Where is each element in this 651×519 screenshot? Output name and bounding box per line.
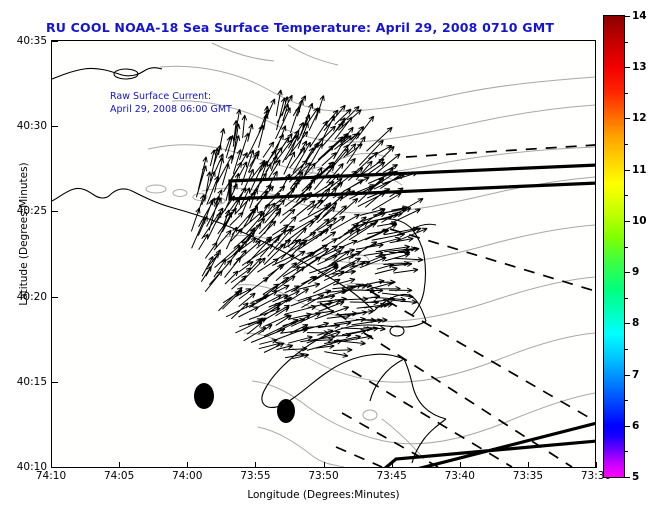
coastline: [52, 68, 446, 463]
x-tick-mark: [460, 462, 461, 468]
colorbar-minor-tick: [625, 42, 628, 43]
colorbar-tick-label: 11: [632, 164, 647, 176]
x-tick-label: 74:00: [172, 470, 202, 482]
x-tick-mark: [187, 462, 188, 468]
colorbar-minor-tick: [625, 144, 628, 145]
figure-title: RU COOL NOAA-18 Sea Surface Temperature:…: [0, 20, 600, 35]
y-tick-mark: [52, 41, 58, 42]
y-tick-mark: [52, 211, 58, 212]
colorbar-tick-label: 8: [632, 317, 639, 329]
colorbar-minor-tick: [625, 247, 628, 248]
colorbar-minor-tick: [625, 349, 628, 350]
x-tick-mark: [596, 462, 597, 468]
colorbar-tick-label: 12: [632, 112, 647, 124]
x-tick-mark: [392, 462, 393, 468]
x-tick-label: 73:45: [376, 470, 406, 482]
surface-current-vectors: [191, 90, 427, 359]
sst-map-figure: RU COOL NOAA-18 Sea Surface Temperature:…: [0, 0, 651, 519]
colorbar-tick-mark: [625, 375, 630, 376]
x-tick-label: 73:40: [445, 470, 475, 482]
y-tick-mark: [52, 297, 58, 298]
colorbar-tick-label: 13: [632, 61, 647, 73]
colorbar-tick-mark: [625, 118, 630, 119]
x-tick-mark: [324, 462, 325, 468]
y-tick-label: 40:10: [17, 461, 47, 473]
survey-boxes: [128, 165, 595, 467]
colorbar-tick-label: 7: [632, 369, 639, 381]
x-tick-mark: [255, 462, 256, 468]
x-axis-label: Longitude (Degrees:Minutes): [51, 489, 596, 501]
colorbar-tick-label: 5: [632, 471, 639, 483]
colorbar-minor-tick: [625, 400, 628, 401]
colorbar-tick-mark: [625, 16, 630, 17]
colorbar-tick-label: 9: [632, 266, 639, 278]
colorbar-tick-label: 6: [632, 420, 639, 432]
colorbar-tick-label: 10: [632, 215, 647, 227]
colorbar-tick-mark: [625, 272, 630, 273]
colorbar-tick-mark: [625, 221, 630, 222]
x-tick-mark: [119, 462, 120, 468]
current-vector-arrows: [191, 90, 427, 359]
y-axis-label: Latitude (Degrees:Minutes): [18, 114, 30, 354]
x-tick-label: 73:50: [308, 470, 338, 482]
y-tick-mark: [52, 126, 58, 127]
map-plot-area[interactable]: Raw Surface Current: April 29, 2008 06:0…: [51, 40, 596, 468]
colorbar-tick-mark: [625, 426, 630, 427]
x-tick-label: 74:05: [104, 470, 134, 482]
x-tick-label: 73:55: [240, 470, 270, 482]
colorbar-minor-tick: [625, 451, 628, 452]
y-tick-label: 40:15: [17, 376, 47, 388]
y-tick-mark: [52, 467, 58, 468]
colorbar-minor-tick: [625, 298, 628, 299]
colorbar: [603, 15, 625, 478]
x-tick-label: 73:35: [513, 470, 543, 482]
annotation-line-1: Raw Surface Current:: [110, 90, 232, 103]
colorbar-tick-mark: [625, 170, 630, 171]
annotation-line-2: April 29, 2008 06:00 GMT: [110, 103, 232, 116]
colorbar-tick-mark: [625, 323, 630, 324]
colorbar-tick-mark: [625, 477, 630, 478]
colorbar-tick-mark: [625, 67, 630, 68]
colorbar-minor-tick: [625, 93, 628, 94]
y-tick-label: 40:35: [17, 35, 47, 47]
current-annotation: Raw Surface Current: April 29, 2008 06:0…: [110, 90, 232, 116]
colorbar-minor-tick: [625, 195, 628, 196]
colorbar-tick-label: 14: [632, 10, 647, 22]
y-tick-mark: [52, 382, 58, 383]
x-tick-mark: [528, 462, 529, 468]
